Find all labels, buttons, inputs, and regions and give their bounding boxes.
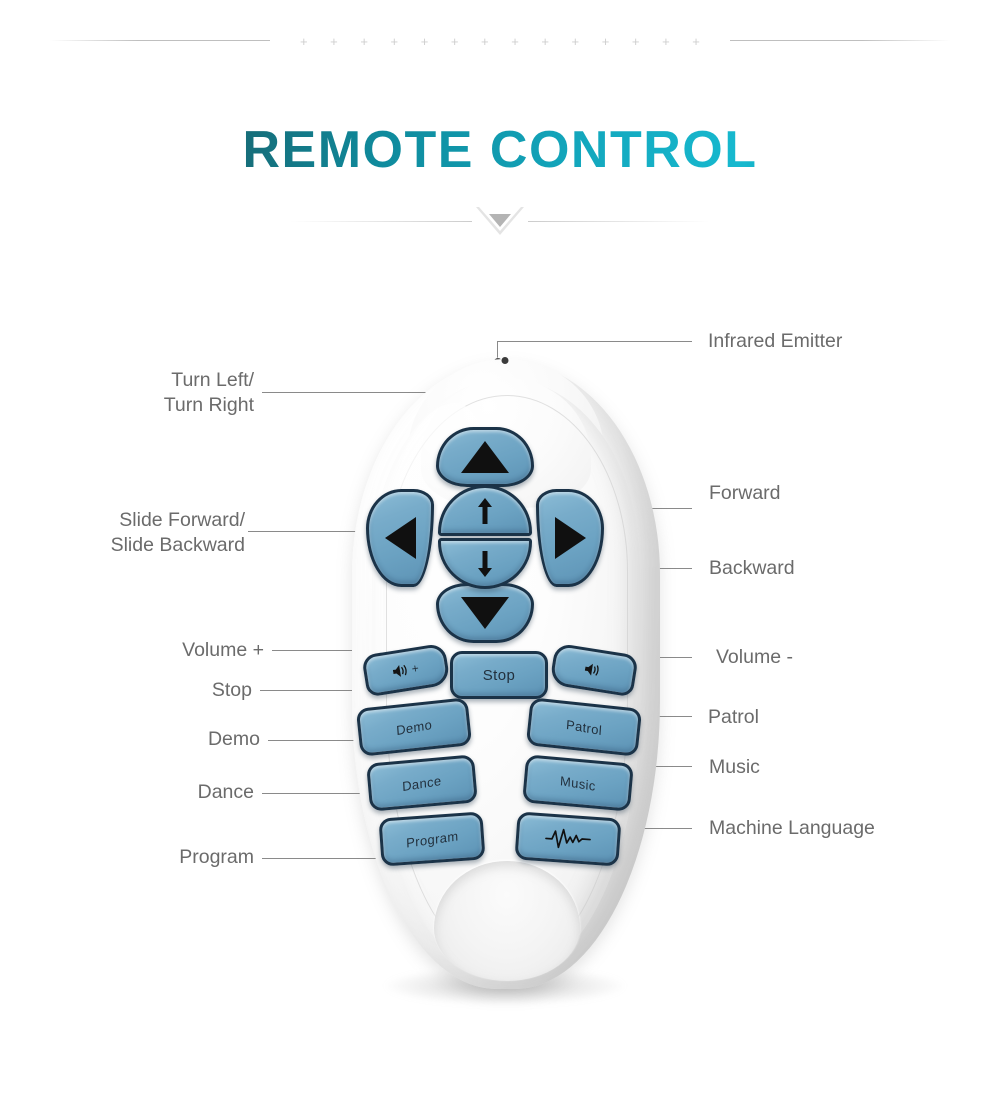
plus-mark: +	[360, 35, 368, 48]
button-music[interactable]: Music	[522, 754, 634, 811]
button-turn-right[interactable]	[436, 583, 534, 643]
button-dance-label: Dance	[402, 772, 442, 793]
plus-mark: +	[632, 35, 640, 48]
waveform-icon	[544, 826, 591, 851]
plus-mark-row: + + + + + + + + + + + + + +	[300, 28, 700, 54]
plus-mark: +	[451, 35, 459, 48]
label-forward: Forward	[709, 481, 781, 506]
page-title: REMOTE CONTROL	[0, 120, 1000, 180]
title-divider	[290, 205, 710, 245]
button-dance[interactable]: Dance	[366, 754, 478, 811]
label-demo: Demo	[0, 727, 260, 752]
label-infrared-emitter: Infrared Emitter	[708, 329, 842, 354]
arrow-down-icon	[477, 551, 493, 577]
leader-infrared-emitter	[497, 341, 692, 342]
button-patrol-label: Patrol	[566, 716, 603, 737]
button-machine-language[interactable]	[514, 811, 621, 866]
label-turn-line1: Turn Left/	[0, 368, 254, 393]
triangle-down-icon	[461, 597, 509, 629]
plus-mark: +	[662, 35, 670, 48]
plus-mark: +	[300, 35, 308, 48]
label-slide-line1: Slide Forward/	[0, 508, 245, 533]
speaker-plus-icon: +	[392, 661, 420, 679]
plus-mark: +	[572, 35, 580, 48]
label-slide-line2: Slide Backward	[0, 533, 245, 558]
top-rule-right	[730, 40, 950, 41]
triangle-left-icon	[385, 517, 416, 559]
label-volume-minus: Volume -	[716, 645, 793, 670]
plus-mark: +	[391, 35, 399, 48]
button-stop[interactable]: Stop	[450, 651, 548, 699]
button-program-label: Program	[406, 828, 459, 850]
plus-mark: +	[330, 35, 338, 48]
label-program: Program	[0, 845, 254, 870]
top-rule-left	[50, 40, 270, 41]
plus-mark: +	[541, 35, 549, 48]
button-stop-label: Stop	[483, 667, 515, 684]
button-demo-label: Demo	[396, 716, 433, 737]
label-turn-left-right: Turn Left/ Turn Right	[0, 368, 254, 418]
plus-mark: +	[511, 35, 519, 48]
plus-mark: +	[481, 35, 489, 48]
plus-mark: +	[602, 35, 610, 48]
label-volume-plus: Volume +	[0, 638, 264, 663]
remote-control-device: + Stop Demo Patrol Dance	[330, 355, 680, 1045]
plus-mark: +	[692, 35, 700, 48]
volume-plus-sign: +	[411, 661, 421, 676]
label-stop: Stop	[0, 678, 252, 703]
button-program[interactable]: Program	[378, 811, 485, 866]
label-backward: Backward	[709, 556, 795, 581]
label-slide-forward-backward: Slide Forward/ Slide Backward	[0, 508, 245, 558]
button-music-label: Music	[560, 773, 596, 794]
infrared-emitter-icon	[502, 357, 509, 364]
plus-mark: +	[421, 35, 429, 48]
triangle-up-icon	[461, 441, 509, 473]
triangle-down-filled-icon	[489, 214, 511, 227]
arrow-up-icon	[477, 498, 493, 524]
divider-rule-right	[528, 221, 710, 222]
label-turn-line2: Turn Right	[0, 393, 254, 418]
speaker-minus-icon	[584, 662, 605, 679]
label-dance: Dance	[0, 780, 254, 805]
label-machine-language: Machine Language	[709, 816, 875, 841]
divider-rule-left	[290, 221, 472, 222]
label-music: Music	[709, 755, 760, 780]
diagram-canvas: + + + + + + + + + + + + + + REMOTE CONTR…	[0, 0, 1000, 1116]
button-turn-left[interactable]	[436, 427, 534, 487]
triangle-right-icon	[555, 517, 586, 559]
top-decoration: + + + + + + + + + + + + + +	[0, 28, 1000, 54]
label-patrol: Patrol	[708, 705, 759, 730]
